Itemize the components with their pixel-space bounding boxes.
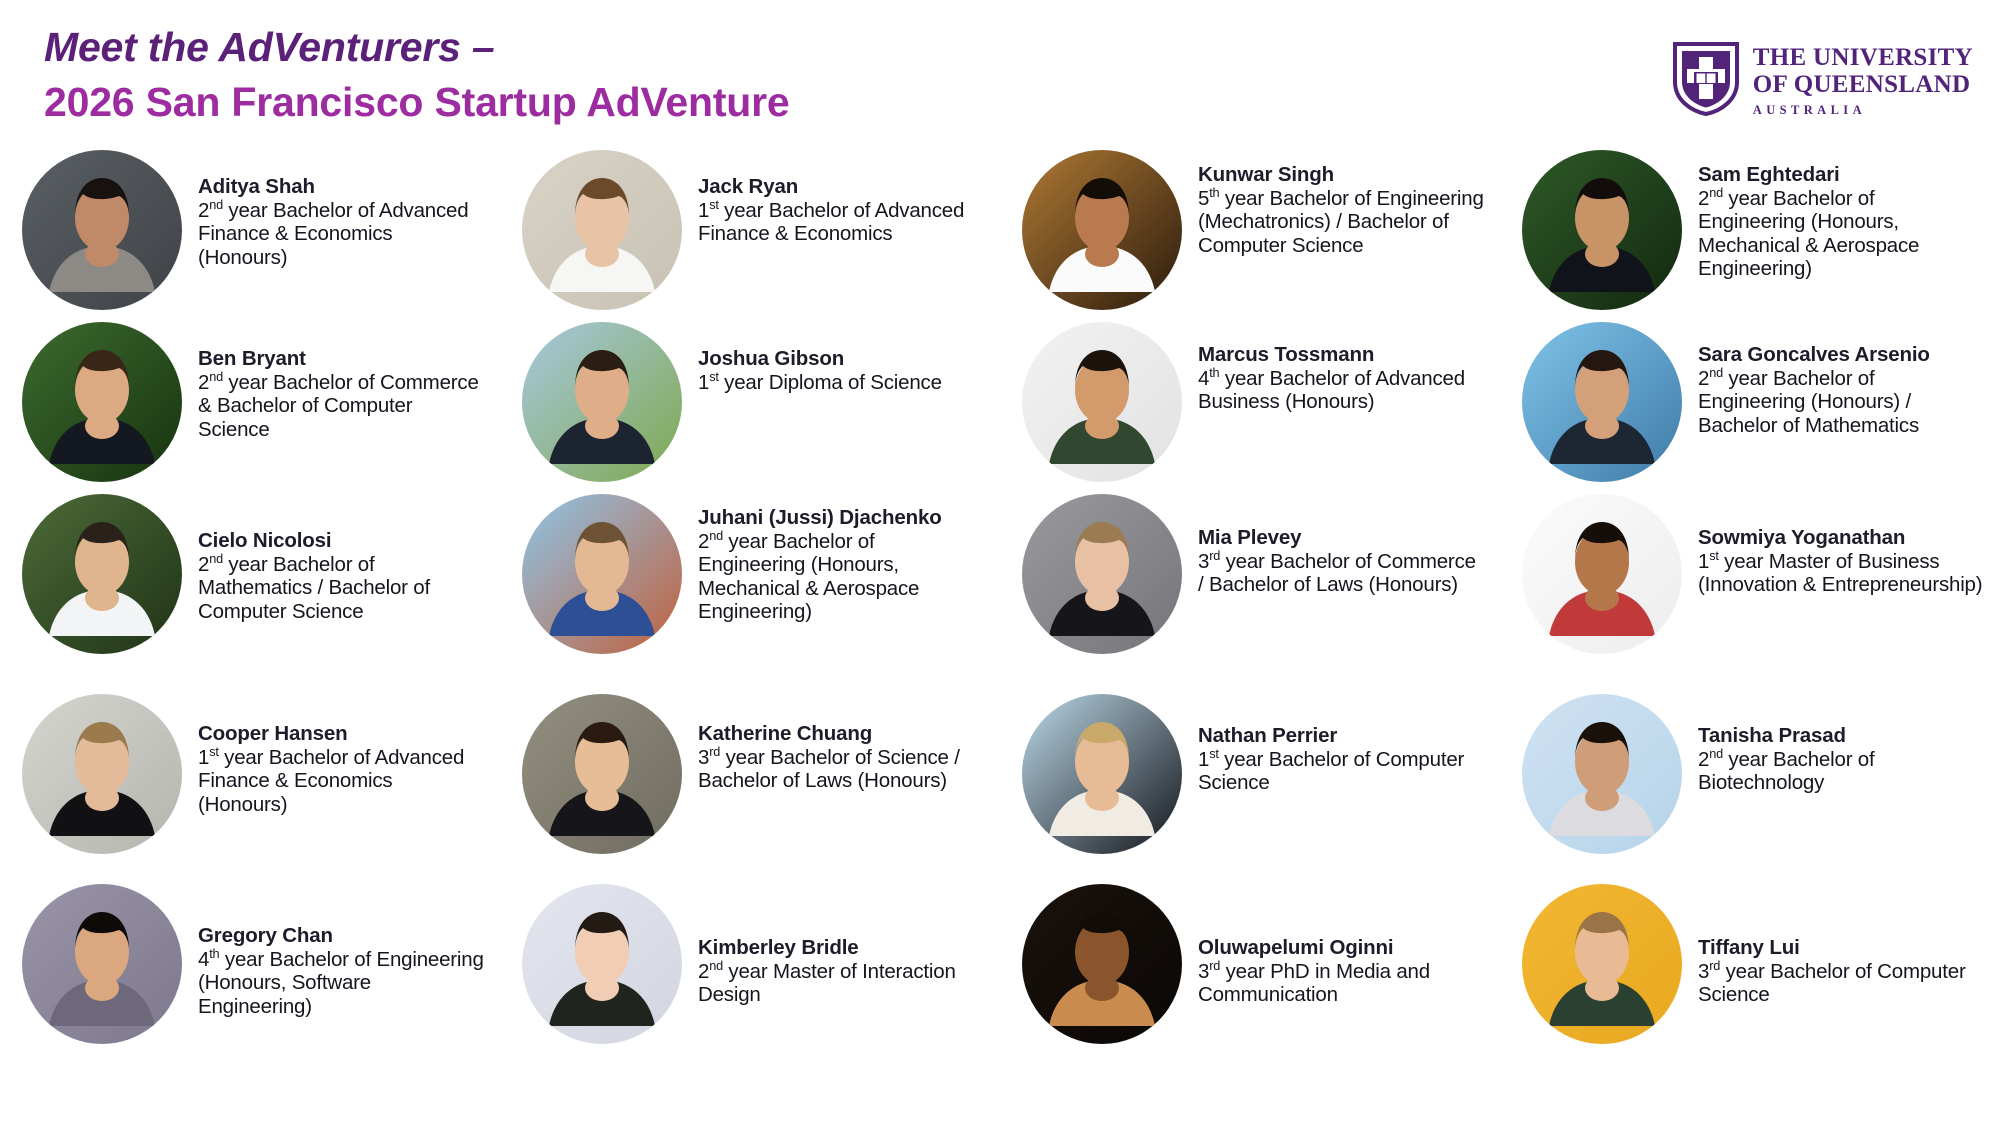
person-info: Cooper Hansen1st year Bachelor of Advanc…	[198, 694, 486, 816]
person-card: Kimberley Bridle2nd year Master of Inter…	[500, 884, 1000, 1074]
person-name: Ben Bryant	[198, 347, 486, 370]
person-year-suffix: st	[709, 197, 718, 212]
person-name: Tiffany Lui	[1698, 936, 1986, 959]
person-info: Cielo Nicolosi2nd year Bachelor of Mathe…	[198, 494, 486, 623]
person-year-ordinal: 3	[1698, 960, 1709, 983]
person-program: 2nd year Bachelor of Engineering (Honour…	[1698, 187, 1986, 280]
person-program-text: year Bachelor of Advanced Finance & Econ…	[698, 199, 964, 245]
person-card: Sowmiya Yoganathan1st year Master of Bus…	[1500, 494, 2000, 694]
person-year-ordinal: 2	[698, 960, 709, 983]
person-name: Kimberley Bridle	[698, 936, 986, 959]
person-year-ordinal: 2	[1698, 187, 1709, 210]
person-year-suffix: st	[1209, 746, 1218, 761]
person-info: Ben Bryant2nd year Bachelor of Commerce …	[198, 322, 486, 441]
person-year-suffix: st	[1709, 548, 1718, 563]
adventurers-grid: Aditya Shah2nd year Bachelor of Advanced…	[0, 150, 2000, 1074]
person-program-text: year Bachelor of Advanced Finance & Econ…	[198, 199, 468, 269]
person-name: Cooper Hansen	[198, 722, 486, 745]
person-program: 4th year Bachelor of Advanced Business (…	[1198, 367, 1486, 414]
person-year-suffix: rd	[1209, 548, 1220, 563]
person-avatar	[522, 150, 682, 310]
person-info: Oluwapelumi Oginni3rd year PhD in Media …	[1198, 884, 1486, 1007]
person-program: 1st year Bachelor of Advanced Finance & …	[698, 199, 986, 246]
person-info: Katherine Chuang3rd year Bachelor of Sci…	[698, 694, 986, 793]
person-card: Gregory Chan4th year Bachelor of Enginee…	[0, 884, 500, 1074]
page-title: Meet the AdVenturers – 2026 San Francisc…	[44, 22, 789, 127]
person-name: Tanisha Prasad	[1698, 724, 1986, 747]
person-info: Marcus Tossmann4th year Bachelor of Adva…	[1198, 322, 1486, 414]
person-year-suffix: th	[1209, 365, 1219, 380]
person-year-ordinal: 2	[198, 199, 209, 222]
person-card: Mia Plevey3rd year Bachelor of Commerce …	[1000, 494, 1500, 694]
uq-logo-wordmark: THE UNIVERSITY OF QUEENSLAND AUSTRALIA	[1753, 42, 1973, 118]
person-card: Tiffany Lui3rd year Bachelor of Computer…	[1500, 884, 2000, 1074]
person-card: Aditya Shah2nd year Bachelor of Advanced…	[0, 150, 500, 322]
person-year-ordinal: 5	[1198, 187, 1209, 210]
person-name: Kunwar Singh	[1198, 163, 1486, 186]
person-year-suffix: rd	[709, 744, 720, 759]
person-program-text: year Bachelor of Engineering (Mechatroni…	[1198, 187, 1484, 257]
person-card: Marcus Tossmann4th year Bachelor of Adva…	[1000, 322, 1500, 494]
person-program-text: year Bachelor of Computer Science	[1698, 960, 1966, 1006]
person-info: Tiffany Lui3rd year Bachelor of Computer…	[1698, 884, 1986, 1007]
person-avatar	[522, 694, 682, 854]
person-avatar	[1022, 884, 1182, 1044]
person-avatar	[22, 494, 182, 654]
person-name: Nathan Perrier	[1198, 724, 1486, 747]
person-card: Jack Ryan1st year Bachelor of Advanced F…	[500, 150, 1000, 322]
person-year-suffix: nd	[1709, 365, 1723, 380]
person-card: Sara Goncalves Arsenio2nd year Bachelor …	[1500, 322, 2000, 494]
person-info: Nathan Perrier1st year Bachelor of Compu…	[1198, 694, 1486, 795]
person-program: 1st year Diploma of Science	[698, 371, 986, 394]
person-year-suffix: nd	[209, 197, 223, 212]
person-info: Jack Ryan1st year Bachelor of Advanced F…	[698, 150, 986, 246]
person-program-text: year Diploma of Science	[719, 371, 942, 394]
person-program: 1st year Master of Business (Innovation …	[1698, 550, 1986, 597]
person-info: Tanisha Prasad2nd year Bachelor of Biote…	[1698, 694, 1986, 795]
person-program: 1st year Bachelor of Advanced Finance & …	[198, 746, 486, 816]
person-info: Kimberley Bridle2nd year Master of Inter…	[698, 884, 986, 1007]
person-year-ordinal: 4	[198, 948, 209, 971]
person-avatar	[22, 150, 182, 310]
person-card: Juhani (Jussi) Djachenko2nd year Bachelo…	[500, 494, 1000, 694]
person-year-ordinal: 1	[1198, 748, 1209, 771]
person-name: Joshua Gibson	[698, 347, 986, 370]
person-avatar	[22, 322, 182, 482]
person-program-text: year Master of Business (Innovation & En…	[1698, 550, 1982, 596]
person-name: Gregory Chan	[198, 924, 486, 947]
person-name: Oluwapelumi Oginni	[1198, 936, 1486, 959]
person-info: Mia Plevey3rd year Bachelor of Commerce …	[1198, 494, 1486, 597]
person-card: Kunwar Singh5th year Bachelor of Enginee…	[1000, 150, 1500, 322]
person-year-suffix: nd	[709, 958, 723, 973]
person-avatar	[1522, 884, 1682, 1044]
person-name: Marcus Tossmann	[1198, 343, 1486, 366]
person-program-text: year Bachelor of Science / Bachelor of L…	[698, 746, 960, 792]
person-name: Juhani (Jussi) Djachenko	[698, 506, 986, 529]
person-year-suffix: rd	[1209, 958, 1220, 973]
person-program: 3rd year Bachelor of Science / Bachelor …	[698, 746, 986, 793]
person-card: Oluwapelumi Oginni3rd year PhD in Media …	[1000, 884, 1500, 1074]
person-year-suffix: nd	[209, 551, 223, 566]
person-program: 1st year Bachelor of Computer Science	[1198, 748, 1486, 795]
person-name: Jack Ryan	[698, 175, 986, 198]
person-card: Cielo Nicolosi2nd year Bachelor of Mathe…	[0, 494, 500, 694]
person-year-suffix: th	[209, 946, 219, 961]
person-avatar	[1022, 494, 1182, 654]
person-card: Nathan Perrier1st year Bachelor of Compu…	[1000, 694, 1500, 884]
person-program: 2nd year Bachelor of Commerce & Bachelor…	[198, 371, 486, 441]
person-year-ordinal: 2	[198, 553, 209, 576]
person-avatar	[1522, 694, 1682, 854]
person-avatar	[1022, 150, 1182, 310]
person-program-text: year Bachelor of Mathematics / Bachelor …	[198, 553, 430, 623]
person-info: Aditya Shah2nd year Bachelor of Advanced…	[198, 150, 486, 269]
person-year-suffix: nd	[1709, 185, 1723, 200]
person-program-text: year Bachelor of Engineering (Honours, S…	[198, 948, 484, 1018]
person-name: Cielo Nicolosi	[198, 529, 486, 552]
uq-logo: THE UNIVERSITY OF QUEENSLAND AUSTRALIA	[1673, 42, 1973, 118]
person-avatar	[522, 884, 682, 1044]
person-info: Kunwar Singh5th year Bachelor of Enginee…	[1198, 150, 1486, 257]
person-year-ordinal: 2	[198, 371, 209, 394]
person-program: 2nd year Bachelor of Engineering (Honour…	[1698, 367, 1986, 437]
person-card: Joshua Gibson1st year Diploma of Science	[500, 322, 1000, 494]
person-year-suffix: nd	[1709, 746, 1723, 761]
person-program-text: year Bachelor of Engineering (Honours, M…	[1698, 187, 1919, 280]
person-year-ordinal: 4	[1198, 367, 1209, 390]
person-year-ordinal: 2	[1698, 367, 1709, 390]
uq-logo-line-3: AUSTRALIA	[1753, 103, 1973, 118]
person-info: Sowmiya Yoganathan1st year Master of Bus…	[1698, 494, 1986, 597]
person-avatar	[1022, 694, 1182, 854]
person-program-text: year Bachelor of Biotechnology	[1698, 748, 1875, 794]
uq-shield-icon	[1673, 42, 1739, 116]
person-program-text: year Bachelor of Commerce & Bachelor of …	[198, 371, 479, 441]
person-name: Sara Goncalves Arsenio	[1698, 343, 1986, 366]
person-program: 3rd year PhD in Media and Communication	[1198, 960, 1486, 1007]
person-program-text: year PhD in Media and Communication	[1198, 960, 1430, 1006]
person-year-suffix: th	[1209, 185, 1219, 200]
title-line-2: 2026 San Francisco Startup AdVenture	[44, 77, 789, 127]
person-info: Sara Goncalves Arsenio2nd year Bachelor …	[1698, 322, 1986, 437]
person-name: Sam Eghtedari	[1698, 163, 1986, 186]
person-avatar	[22, 884, 182, 1044]
person-card: Cooper Hansen1st year Bachelor of Advanc…	[0, 694, 500, 884]
person-program-text: year Bachelor of Engineering (Honours) /…	[1698, 367, 1919, 437]
person-program: 2nd year Bachelor of Mathematics / Bache…	[198, 553, 486, 623]
person-program-text: year Master of Interaction Design	[698, 960, 956, 1006]
person-year-ordinal: 3	[1198, 550, 1209, 573]
person-program: 3rd year Bachelor of Commerce / Bachelor…	[1198, 550, 1486, 597]
person-year-ordinal: 1	[198, 746, 209, 769]
person-year-suffix: rd	[1709, 958, 1720, 973]
person-avatar	[22, 694, 182, 854]
person-year-ordinal: 1	[698, 371, 709, 394]
person-program-text: year Bachelor of Advanced Business (Hono…	[1198, 367, 1465, 413]
person-card: Sam Eghtedari2nd year Bachelor of Engine…	[1500, 150, 2000, 322]
person-year-ordinal: 2	[1698, 748, 1709, 771]
person-info: Joshua Gibson1st year Diploma of Science	[698, 322, 986, 394]
person-year-ordinal: 3	[1198, 960, 1209, 983]
person-name: Sowmiya Yoganathan	[1698, 526, 1986, 549]
person-name: Katherine Chuang	[698, 722, 986, 745]
person-program-text: year Bachelor of Engineering (Honours, M…	[698, 530, 919, 623]
person-year-suffix: nd	[709, 528, 723, 543]
person-program: 5th year Bachelor of Engineering (Mechat…	[1198, 187, 1486, 257]
person-program: 2nd year Bachelor of Engineering (Honour…	[698, 530, 986, 623]
person-year-ordinal: 2	[698, 530, 709, 553]
person-info: Sam Eghtedari2nd year Bachelor of Engine…	[1698, 150, 1986, 280]
uq-logo-line-1: THE UNIVERSITY	[1753, 44, 1973, 71]
person-avatar	[1022, 322, 1182, 482]
person-program-text: year Bachelor of Computer Science	[1198, 748, 1464, 794]
person-year-ordinal: 3	[698, 746, 709, 769]
person-info: Gregory Chan4th year Bachelor of Enginee…	[198, 884, 486, 1018]
page-header: Meet the AdVenturers – 2026 San Francisc…	[0, 0, 2000, 160]
title-line-1: Meet the AdVenturers –	[44, 22, 789, 72]
person-program-text: year Bachelor of Commerce / Bachelor of …	[1198, 550, 1476, 596]
person-avatar	[1522, 494, 1682, 654]
person-year-suffix: st	[709, 369, 718, 384]
person-avatar	[522, 494, 682, 654]
uq-logo-line-2: OF QUEENSLAND	[1753, 71, 1973, 98]
person-program: 4th year Bachelor of Engineering (Honour…	[198, 948, 486, 1018]
person-avatar	[522, 322, 682, 482]
person-program: 2nd year Master of Interaction Design	[698, 960, 986, 1007]
person-info: Juhani (Jussi) Djachenko2nd year Bachelo…	[698, 494, 986, 623]
person-name: Aditya Shah	[198, 175, 486, 198]
person-program: 2nd year Bachelor of Advanced Finance & …	[198, 199, 486, 269]
person-program-text: year Bachelor of Advanced Finance & Econ…	[198, 746, 464, 816]
person-name: Mia Plevey	[1198, 526, 1486, 549]
person-year-ordinal: 1	[1698, 550, 1709, 573]
person-year-suffix: st	[209, 744, 218, 759]
person-card: Ben Bryant2nd year Bachelor of Commerce …	[0, 322, 500, 494]
person-avatar	[1522, 322, 1682, 482]
person-program: 2nd year Bachelor of Biotechnology	[1698, 748, 1986, 795]
person-program: 3rd year Bachelor of Computer Science	[1698, 960, 1986, 1007]
person-card: Tanisha Prasad2nd year Bachelor of Biote…	[1500, 694, 2000, 884]
person-avatar	[1522, 150, 1682, 310]
person-card: Katherine Chuang3rd year Bachelor of Sci…	[500, 694, 1000, 884]
person-year-suffix: nd	[209, 369, 223, 384]
person-year-ordinal: 1	[698, 199, 709, 222]
